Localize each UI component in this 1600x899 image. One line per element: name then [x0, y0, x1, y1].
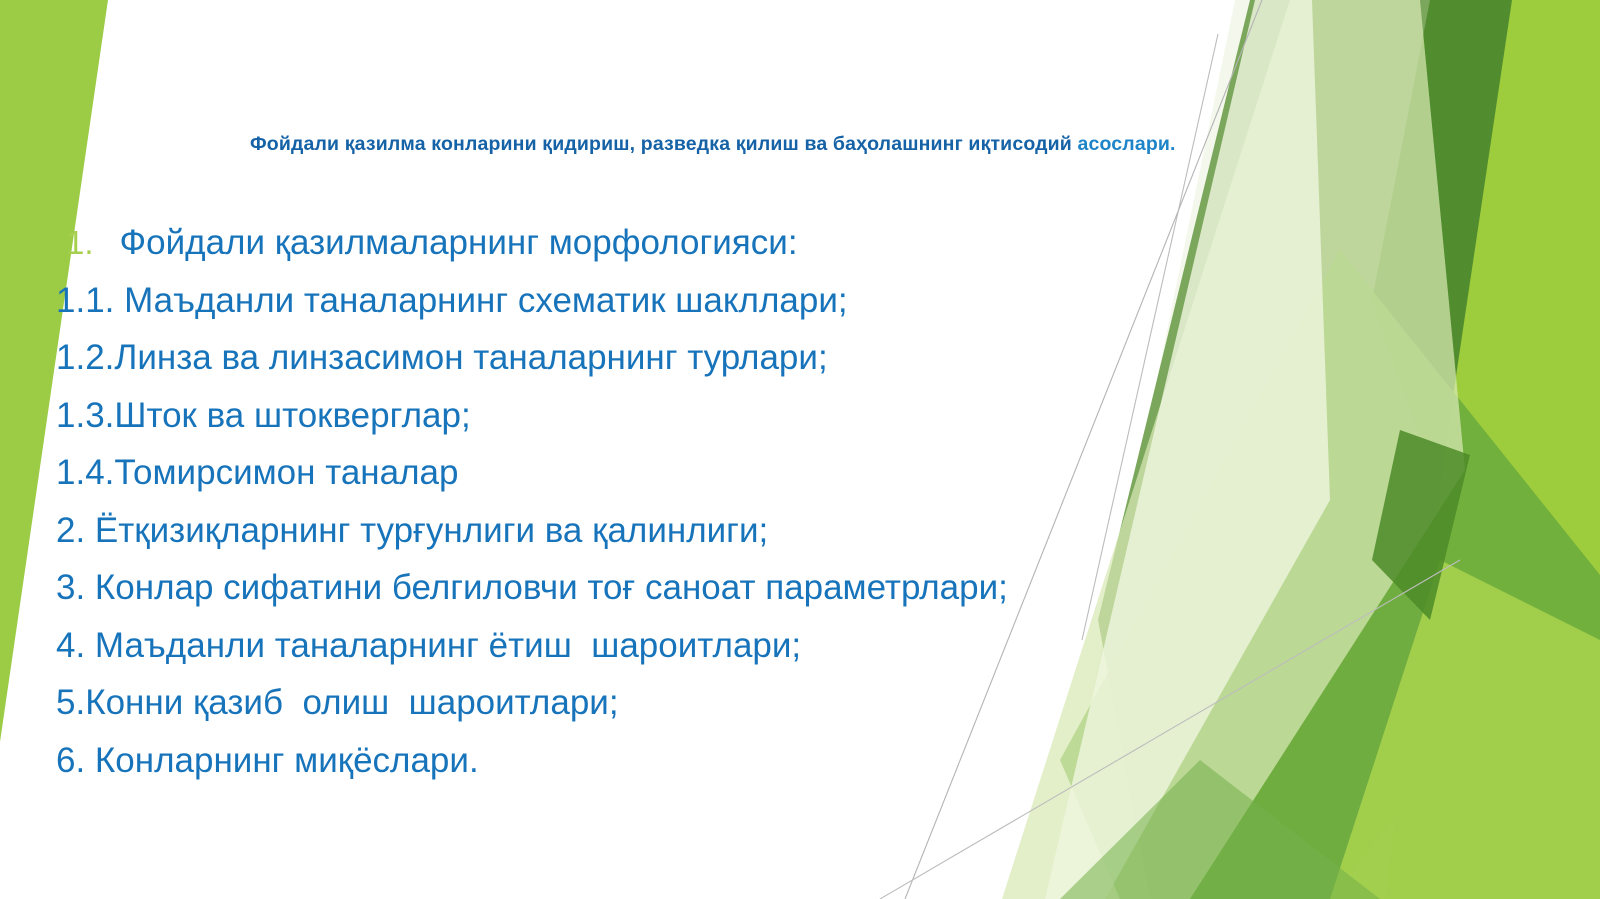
list-item-text-2: 1.1. Маъданли таналарнинг схематик шаклл…	[56, 281, 848, 320]
list-item-5: 1.4.Томирсимон таналар	[56, 444, 1406, 502]
list-item-1: 1.Фойдали қазилмаларнинг морфологияси:	[56, 214, 1406, 272]
list-item-9: 5.Конни қазиб олиш шароитлари;	[56, 674, 1406, 732]
list-item-6: 2. Ётқизиқларнинг турғунлиги ва қалинлиг…	[56, 502, 1406, 560]
list-item-text-1: Фойдали қазилмаларнинг морфологияси:	[120, 223, 798, 262]
slide-canvas: Фойдали қазилма конларини қидириш, разве…	[0, 0, 1600, 899]
slide-title-accent: асослари.	[1078, 133, 1176, 155]
list-item-text-7: 3. Конлар сифатини белгиловчи тоғ саноат…	[56, 568, 1008, 607]
list-item-text-9: 5.Конни қазиб олиш шароитлари;	[56, 683, 619, 722]
slide-title: Фойдали қазилма конларини қидириш, разве…	[250, 132, 1450, 156]
list-item-7: 3. Конлар сифатини белгиловчи тоғ саноат…	[56, 559, 1406, 617]
list-marker-1: 1.	[66, 224, 94, 261]
list-item-text-5: 1.4.Томирсимон таналар	[56, 453, 458, 492]
list-item-text-10: 6. Конларнинг миқёслари.	[56, 741, 479, 780]
list-item-text-4: 1.3.Шток ва штокверглар;	[56, 396, 471, 435]
list-item-text-3: 1.2.Линза ва линзасимон таналарнинг турл…	[56, 338, 828, 377]
list-item-10: 6. Конларнинг миқёслари.	[56, 732, 1406, 790]
list-item-8: 4. Маъданли таналарнинг ётиш шароитлари;	[56, 617, 1406, 675]
outline-list: 1.Фойдали қазилмаларнинг морфологияси: 1…	[56, 214, 1406, 789]
slide-content: Фойдали қазилма конларини қидириш, разве…	[0, 0, 1600, 899]
list-item-2: 1.1. Маъданли таналарнинг схематик шаклл…	[56, 272, 1406, 330]
list-item-text-8: 4. Маъданли таналарнинг ётиш шароитлари;	[56, 626, 801, 665]
list-item-3: 1.2.Линза ва линзасимон таналарнинг турл…	[56, 329, 1406, 387]
slide-title-main: Фойдали қазилма конларини қидириш, разве…	[250, 133, 1078, 155]
list-item-text-6: 2. Ётқизиқларнинг турғунлиги ва қалинлиг…	[56, 511, 768, 550]
list-item-4: 1.3.Шток ва штокверглар;	[56, 387, 1406, 445]
